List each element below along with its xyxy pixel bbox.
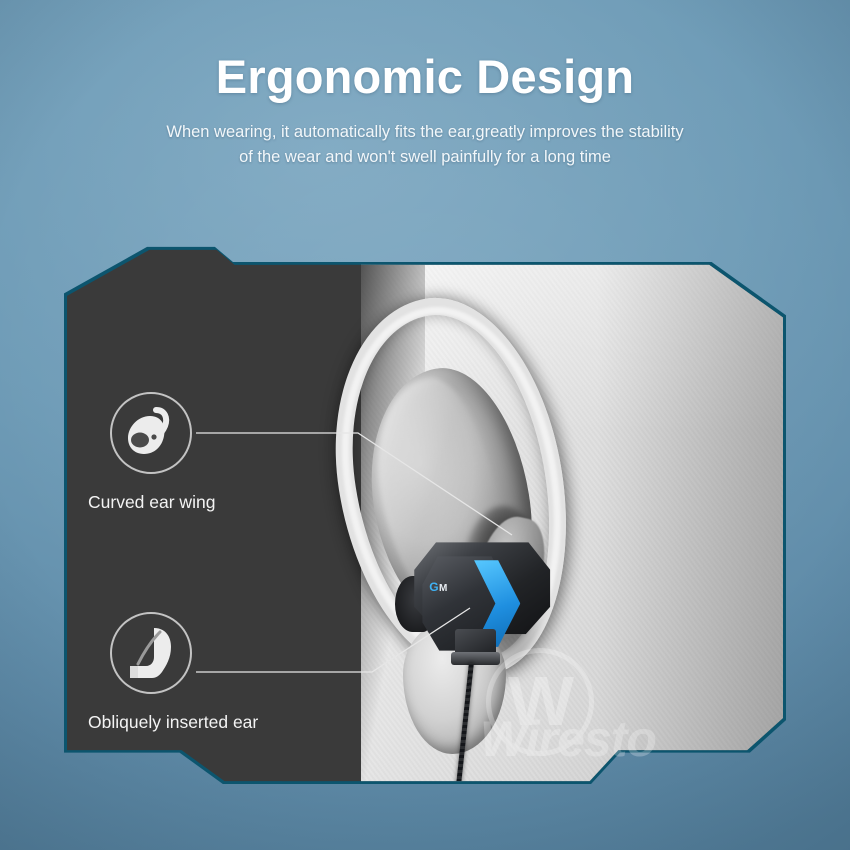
callout-label: Obliquely inserted ear [88, 712, 258, 733]
ear-insert-icon [110, 612, 192, 694]
logo-letter-g: G [429, 580, 439, 594]
page-title: Ergonomic Design [0, 52, 850, 103]
earbud-wing-icon [110, 392, 192, 474]
earphone-product: GM [414, 542, 550, 669]
callout-obliquely-inserted-ear: Obliquely inserted ear [110, 612, 258, 733]
header: Ergonomic Design When wearing, it automa… [0, 52, 850, 170]
callout-curved-ear-wing: Curved ear wing [110, 392, 215, 513]
skin-shadow-right [597, 246, 783, 800]
subtitle-line-2: of the wear and won't swell painfully fo… [0, 145, 850, 170]
earphone-brand-logo: GM [429, 581, 448, 594]
logo-letter-m: M [439, 583, 448, 594]
subtitle-line-1: When wearing, it automatically fits the … [0, 120, 850, 145]
page-subtitle: When wearing, it automatically fits the … [0, 120, 850, 170]
earphone-cable-collar [451, 652, 500, 665]
callout-label: Curved ear wing [88, 492, 215, 513]
